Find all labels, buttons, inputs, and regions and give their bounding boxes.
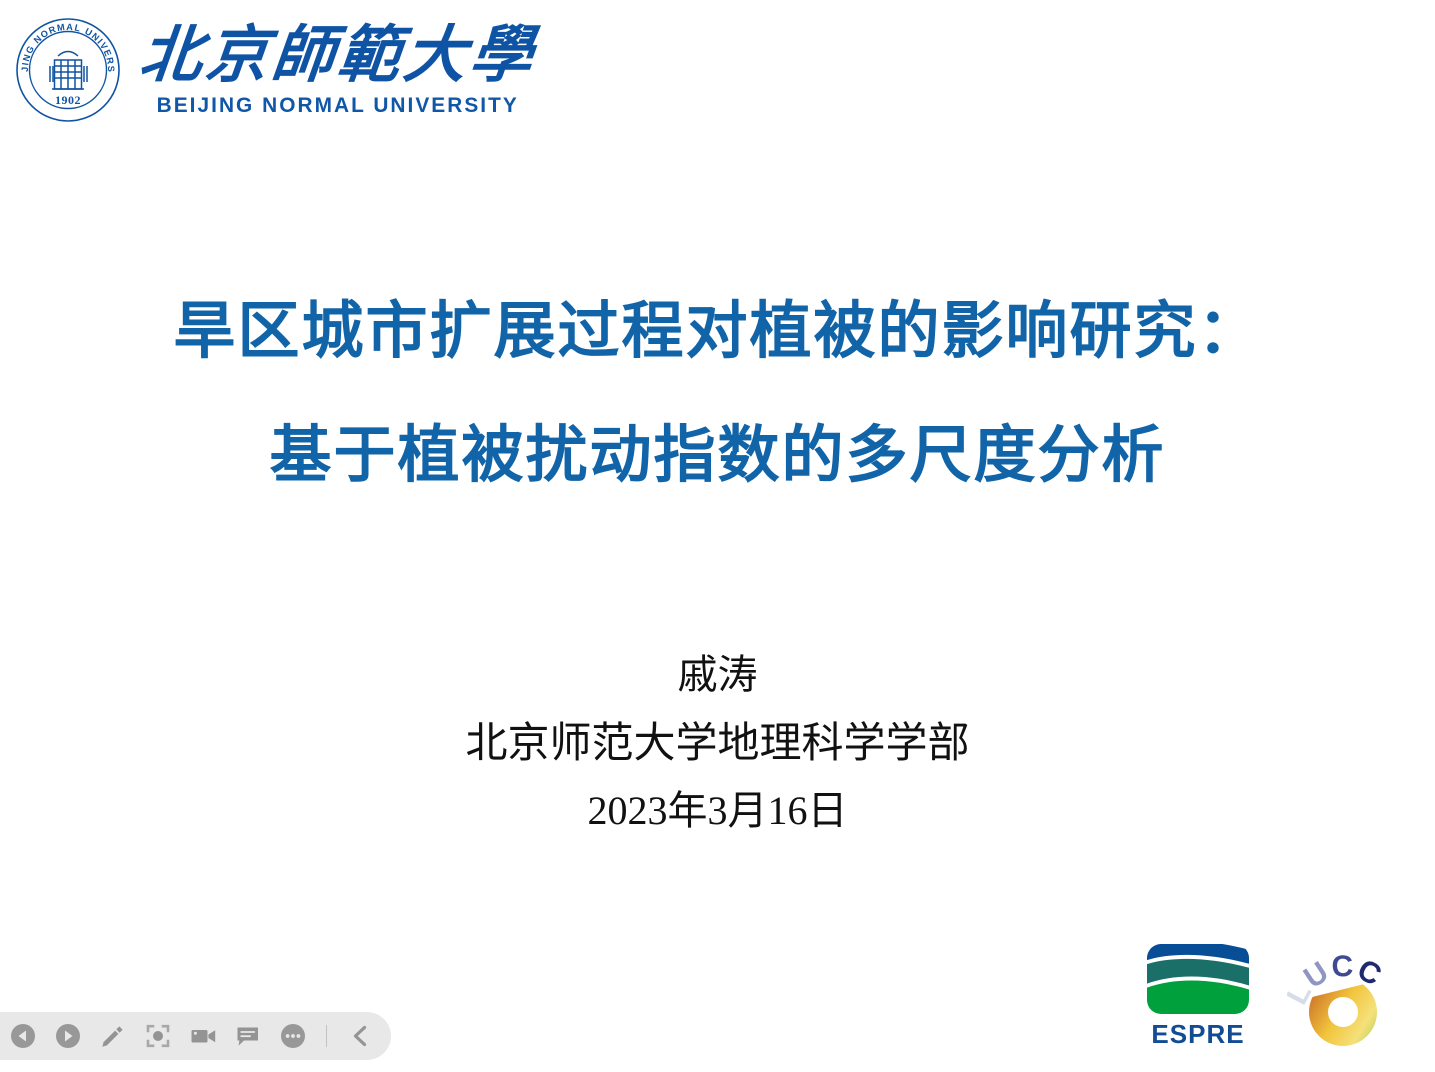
university-logo: BEIJING NORMAL UNIVERSITY 1902 北京 <box>14 16 536 124</box>
author-name: 戚涛 <box>0 655 1435 695</box>
university-wordmark-english: BEIJING NORMAL UNIVERSITY <box>157 93 519 118</box>
espre-logo-label: ESPRE <box>1151 1019 1244 1050</box>
previous-slide-button[interactable] <box>8 1021 38 1051</box>
laser-pointer-icon <box>145 1023 171 1049</box>
ellipsis-icon <box>280 1023 306 1049</box>
record-video-button[interactable] <box>188 1021 218 1051</box>
author-block: 戚涛 北京师范大学地理科学学部 2023年3月16日 <box>0 655 1435 831</box>
more-options-button[interactable] <box>278 1021 308 1051</box>
laser-pointer-button[interactable] <box>143 1021 173 1051</box>
pen-tool-button[interactable] <box>98 1021 128 1051</box>
toolbar-divider <box>326 1025 327 1047</box>
author-affiliation: 北京师范大学地理科学学部 <box>0 723 1435 765</box>
next-icon <box>55 1023 81 1049</box>
collapse-toolbar-button[interactable] <box>345 1021 375 1051</box>
title-line-1: 旱区城市扩展过程对植被的影响研究： <box>0 300 1435 362</box>
chevron-left-icon <box>349 1024 371 1048</box>
video-camera-icon <box>190 1023 217 1049</box>
presentation-toolbar[interactable] <box>0 1012 391 1060</box>
svg-text:1902: 1902 <box>55 93 81 107</box>
slide-title: 旱区城市扩展过程对植被的影响研究： 基于植被扰动指数的多尺度分析 <box>0 300 1435 486</box>
espre-mark-icon <box>1147 940 1249 1018</box>
comment-button[interactable] <box>233 1021 263 1051</box>
svg-text:BEIJING NORMAL UNIVERSITY: BEIJING NORMAL UNIVERSITY <box>14 16 116 73</box>
university-wordmark: 北京師範大學 BEIJING NORMAL UNIVERSITY <box>140 25 536 118</box>
pen-icon <box>100 1023 126 1049</box>
university-wordmark-chinese: 北京師範大學 <box>137 25 540 87</box>
lucc-logo-icon: LUCC <box>1287 950 1399 1050</box>
presentation-date: 2023年3月16日 <box>0 791 1435 831</box>
university-seal-icon: BEIJING NORMAL UNIVERSITY 1902 <box>14 16 122 124</box>
speech-bubble-icon <box>235 1023 261 1049</box>
title-line-2: 基于植被扰动指数的多尺度分析 <box>0 424 1435 486</box>
espre-logo: ESPRE <box>1143 940 1253 1050</box>
previous-icon <box>10 1023 36 1049</box>
next-slide-button[interactable] <box>53 1021 83 1051</box>
presentation-slide: BEIJING NORMAL UNIVERSITY 1902 北京 <box>0 0 1435 1072</box>
partner-logos: ESPRE <box>1143 940 1399 1050</box>
